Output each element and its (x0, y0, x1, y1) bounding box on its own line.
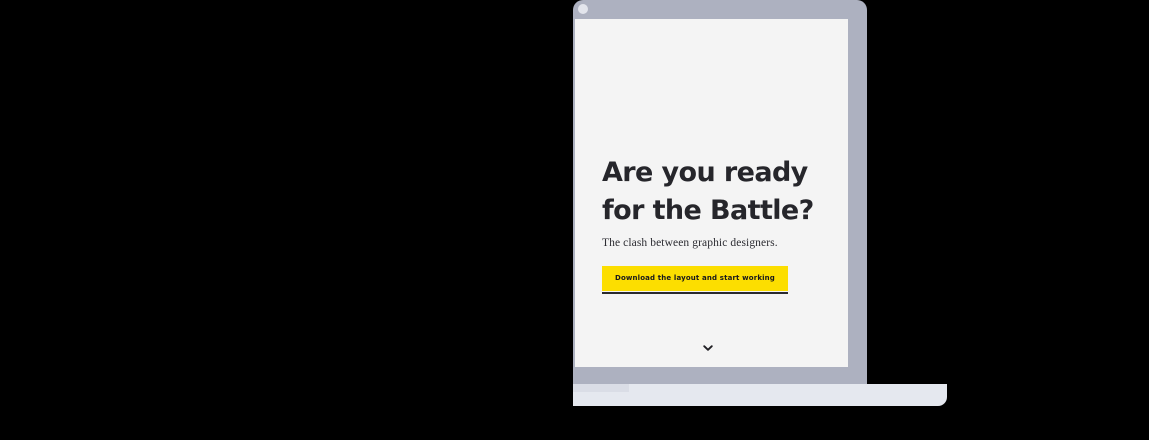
page-background: Are you ready for the Battle? The clash … (0, 0, 1149, 440)
page-title: Are you ready for the Battle? (602, 154, 847, 230)
cta-container: Download the layout and start working (602, 266, 788, 291)
webcam-icon (578, 4, 588, 14)
laptop-screen: Are you ready for the Battle? The clash … (575, 19, 848, 367)
cta-underline (602, 292, 788, 294)
download-layout-button[interactable]: Download the layout and start working (602, 266, 788, 291)
laptop-frame: Are you ready for the Battle? The clash … (573, 0, 867, 384)
hero-section: Are you ready for the Battle? The clash … (602, 154, 848, 291)
laptop-base-notch (573, 384, 629, 392)
chevron-down-icon[interactable] (701, 341, 715, 355)
laptop-base (573, 384, 947, 406)
hero-subtitle: The clash between graphic designers. (602, 236, 848, 251)
laptop-mockup: Are you ready for the Battle? The clash … (573, 0, 867, 384)
